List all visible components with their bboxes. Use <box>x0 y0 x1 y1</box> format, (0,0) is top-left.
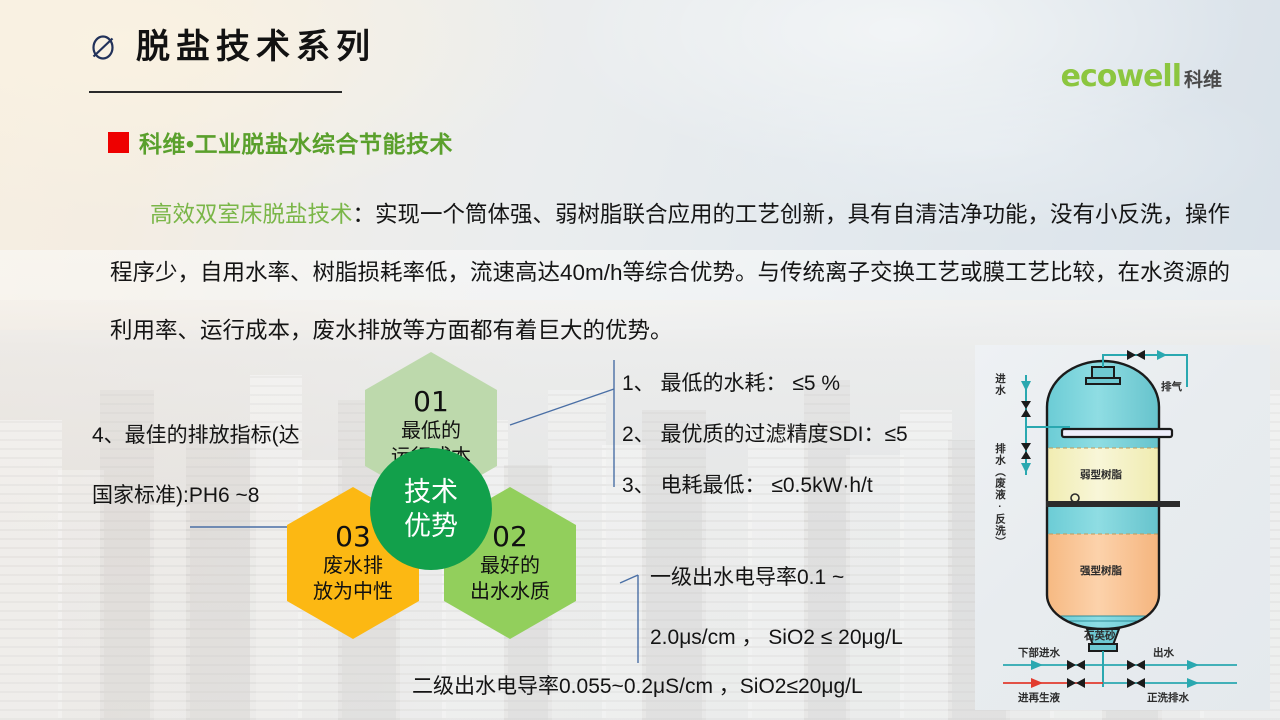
benefit-item-2: 2、 最优质的过滤精度SDI：≤5 <box>622 409 982 460</box>
slashed-circle-icon <box>88 32 118 62</box>
section-subtitle: 科维•工业脱盐水综合节能技术 <box>108 125 453 159</box>
hexagon-center-line1: 技术 <box>404 475 458 509</box>
water-quality-line2: 2.0μs/cm ， SiO2 ≤ 20μg/L <box>650 608 980 668</box>
diagram-label-regen-in: 进再生液 <box>1018 690 1060 705</box>
hexagon-02-number: 02 <box>492 522 528 552</box>
diagram-label-inlet: 进水 <box>993 373 1008 396</box>
diagram-label-drain: 排水（废液·反洗） <box>993 443 1008 548</box>
diagram-label-outlet: 出水 <box>1153 645 1174 660</box>
hexagon-02-line1: 最好的 <box>480 553 540 579</box>
section-subtitle-text: 科维•工业脱盐水综合节能技术 <box>139 125 453 159</box>
hexagon-03-line2: 放为中性 <box>313 579 393 605</box>
hexagon-02-line2: 出水水质 <box>470 579 550 605</box>
hexagon-03-line1: 废水排 <box>323 553 383 579</box>
ecowell-logo: ecowell 科维 <box>1061 62 1222 92</box>
diagram-label-strong-resin: 强型树脂 <box>1080 563 1122 578</box>
diagram-label-rinse-drain: 正洗排水 <box>1147 690 1189 705</box>
benefit-item-1: 1、 最低的水耗： ≤5 % <box>622 358 982 409</box>
water-quality-note: 一级出水电导率0.1 ~ 2.0μs/cm ， SiO2 ≤ 20μg/L <box>650 548 980 668</box>
left-note-line2: 国家标准):PH6 ~8 <box>92 466 392 526</box>
hexagon-01-number: 01 <box>413 387 449 417</box>
hexagon-01-line1: 最低的 <box>401 418 461 444</box>
title-underline <box>89 91 342 93</box>
left-note: 4、最佳的排放指标(达 国家标准):PH6 ~8 <box>92 406 392 526</box>
water-quality-line3: 二级出水电导率0.055~0.2μS/cm ，SiO2≤20μg/L <box>412 670 863 700</box>
hexagon-center-line2: 优势 <box>404 509 458 543</box>
diagram-label-quartz-sand: 石英砂 <box>1084 628 1116 643</box>
vessel-diagram: 排气 进水 排水（废液·反洗） 弱型树脂 强型树脂 石英砂 下部进水 出水 进再… <box>975 345 1270 710</box>
paragraph-highlight: 高效双室床脱盐技术 <box>150 202 353 227</box>
body-paragraph: 高效双室床脱盐技术：实现一个筒体强、弱树脂联合应用的工艺创新，具有自清洁净功能，… <box>110 186 1250 360</box>
logo-chinese-name: 科维 <box>1184 71 1222 90</box>
water-quality-line1: 一级出水电导率0.1 ~ <box>650 548 980 608</box>
page-title-text: 脱盐技术系列 <box>136 30 376 64</box>
benefits-list: 1、 最低的水耗： ≤5 % 2、 最优质的过滤精度SDI：≤5 3、 电耗最低… <box>622 358 982 511</box>
diagram-label-weak-resin: 弱型树脂 <box>1080 467 1122 482</box>
page-title: 脱盐技术系列 <box>88 30 376 64</box>
diagram-label-bottom-inlet: 下部进水 <box>1018 645 1060 660</box>
left-note-line1: 4、最佳的排放指标(达 <box>92 406 392 466</box>
diagram-label-exhaust: 排气 <box>1161 379 1182 394</box>
hexagon-03-number: 03 <box>335 522 371 552</box>
logo-wordmark: ecowell <box>1061 62 1181 92</box>
red-square-bullet-icon <box>108 132 129 153</box>
benefit-item-3: 3、 电耗最低： ≤0.5kW·h/t <box>622 460 982 511</box>
